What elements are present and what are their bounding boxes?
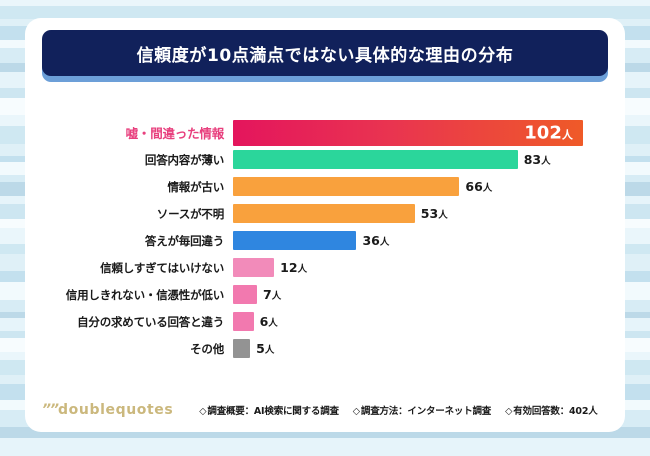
background-stripe [0, 438, 650, 456]
chart-row: 回答内容が薄い83人 [42, 149, 612, 170]
value-number: 6 [260, 314, 269, 329]
survey-note: ◇有効回答数：402人 [505, 403, 597, 417]
chart-row: その他5人 [42, 338, 612, 359]
bar-area: 7人 [233, 284, 612, 305]
survey-note-text: 調査方法：インターネット調査 [361, 406, 491, 417]
chart-row: 答えが毎回違う36人 [42, 230, 612, 251]
doublequotes-logo: ””doublequotes [42, 402, 173, 418]
chart-row: 信頼しすぎてはいけない12人 [42, 257, 612, 278]
chart-row: 信用しきれない・信憑性が低い7人 [42, 284, 612, 305]
value-bar [233, 339, 250, 358]
chart-row: 情報が古い66人 [42, 176, 612, 197]
footer: ””doublequotes ◇調査概要：AI検索に関する調査◇調査方法：インタ… [42, 398, 614, 422]
value-unit: 人 [438, 210, 448, 221]
category-label: 信用しきれない・信憑性が低い [42, 287, 233, 303]
category-label: その他 [42, 341, 233, 357]
value-bar [233, 231, 356, 250]
logo-text: doublequotes [58, 402, 173, 418]
horizontal-bar-chart: 嘘・間違った情報102人回答内容が薄い83人情報が古い66人ソースが不明53人答… [42, 122, 612, 367]
survey-note: ◇調査方法：インターネット調査 [353, 403, 491, 417]
value-label: 12人 [280, 260, 307, 275]
value-number: 83 [524, 152, 541, 167]
value-number: 12 [280, 260, 297, 275]
value-number: 53 [421, 206, 438, 221]
value-unit: 人 [541, 156, 551, 167]
category-label: 情報が古い [42, 179, 233, 195]
survey-note-text: 有効回答数：402人 [513, 406, 597, 417]
chart-row: 嘘・間違った情報102人 [42, 122, 612, 143]
value-bar [233, 285, 257, 304]
value-unit: 人 [298, 264, 308, 275]
value-label: 36人 [362, 233, 389, 248]
bar-area: 102人 [233, 122, 612, 143]
category-label: 嘘・間違った情報 [42, 123, 233, 142]
value-number: 36 [362, 233, 379, 248]
bar-area: 5人 [233, 338, 612, 359]
value-bar [233, 204, 415, 223]
value-label: 83人 [524, 152, 551, 167]
bar-area: 83人 [233, 149, 612, 170]
value-bar [233, 177, 459, 196]
value-number: 7 [263, 287, 272, 302]
value-unit: 人 [272, 291, 282, 302]
title-banner-bar: 信頼度が10点満点ではない具体的な理由の分布 [42, 30, 608, 76]
bar-area: 12人 [233, 257, 612, 278]
category-label: 答えが毎回違う [42, 233, 233, 249]
chart-row: 自分の求めている回答と違う6人 [42, 311, 612, 332]
survey-notes: ◇調査概要：AI検索に関する調査◇調査方法：インターネット調査◇有効回答数：40… [199, 403, 597, 417]
value-bar [233, 312, 254, 331]
value-label: 53人 [421, 206, 448, 221]
value-unit: 人 [483, 183, 493, 194]
value-label: 102人 [524, 122, 573, 143]
value-bar [233, 150, 518, 169]
page-title: 信頼度が10点満点ではない具体的な理由の分布 [137, 41, 514, 66]
value-label: 5人 [256, 341, 274, 356]
category-label: ソースが不明 [42, 206, 233, 222]
bar-area: 36人 [233, 230, 612, 251]
category-label: 信頼しすぎてはいけない [42, 260, 233, 276]
bar-area: 66人 [233, 176, 612, 197]
value-unit: 人 [562, 128, 573, 141]
diamond-icon: ◇ [199, 406, 206, 417]
survey-note-text: 調査概要：AI検索に関する調査 [207, 406, 338, 417]
value-label: 7人 [263, 287, 281, 302]
chart-row: ソースが不明53人 [42, 203, 612, 224]
title-banner: 信頼度が10点満点ではない具体的な理由の分布 [42, 30, 608, 82]
value-number: 66 [465, 179, 482, 194]
value-unit: 人 [265, 345, 275, 356]
diamond-icon: ◇ [353, 406, 360, 417]
value-number: 5 [256, 341, 265, 356]
bar-area: 53人 [233, 203, 612, 224]
value-unit: 人 [380, 237, 390, 248]
bar-area: 6人 [233, 311, 612, 332]
value-label: 66人 [465, 179, 492, 194]
category-label: 自分の求めている回答と違う [42, 314, 233, 330]
survey-note: ◇調査概要：AI検索に関する調査 [199, 403, 339, 417]
quote-marks-icon: ”” [42, 402, 58, 418]
value-bar: 102人 [233, 120, 583, 146]
category-label: 回答内容が薄い [42, 152, 233, 168]
value-bar [233, 258, 274, 277]
diamond-icon: ◇ [505, 406, 512, 417]
value-number: 102 [524, 122, 562, 143]
value-label: 6人 [260, 314, 278, 329]
value-unit: 人 [268, 318, 278, 329]
